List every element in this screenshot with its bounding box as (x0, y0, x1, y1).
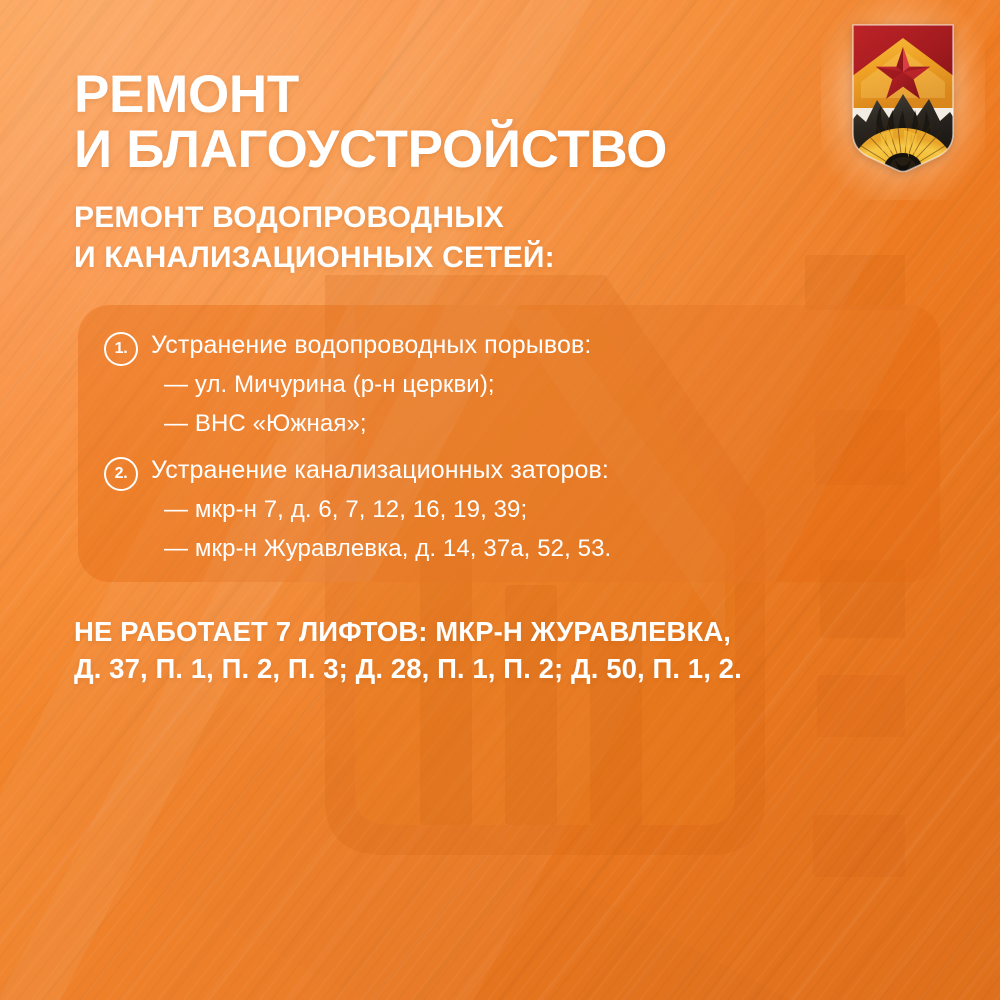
page-subtitle-line-2: И КАНАЛИЗАЦИОННЫХ СЕТЕЙ: (74, 238, 834, 278)
lifts-notice: НЕ РАБОТАЕТ 7 ЛИФТОВ: МКР-Н ЖУРАВЛЕВКА, … (74, 614, 954, 688)
list-sub-item: — ул. Мичурина (р-н церкви); (164, 366, 591, 405)
list-number-badge: 1. (104, 332, 138, 366)
coat-of-arms-shield-icon (847, 22, 959, 174)
page-subtitle: РЕМОНТ ВОДОПРОВОДНЫХ И КАНАЛИЗАЦИОННЫХ С… (74, 198, 834, 277)
page-subtitle-line-1: РЕМОНТ ВОДОПРОВОДНЫХ (74, 198, 834, 238)
list-sub-item: — мкр-н 7, д. 6, 7, 12, 16, 19, 39; (164, 491, 611, 530)
page-title-line-1: РЕМОНТ (74, 68, 834, 123)
lifts-notice-line-1: НЕ РАБОТАЕТ 7 ЛИФТОВ: МКР-Н ЖУРАВЛЕВКА, (74, 614, 954, 651)
coat-of-arms (847, 22, 959, 174)
numbered-heading: 1. Устранение водопроводных порывов: (104, 328, 591, 366)
list-number-badge: 2. (104, 457, 138, 491)
poster-canvas: РЕМОНТ И БЛАГОУСТРОЙСТВО РЕМОНТ ВОДОПРОВ… (0, 0, 1000, 1000)
list-item: 2. Устранение канализационных заторов: —… (104, 453, 611, 569)
page-title: РЕМОНТ И БЛАГОУСТРОЙСТВО (74, 68, 834, 177)
list-item: 1. Устранение водопроводных порывов: — у… (104, 328, 591, 444)
page-title-line-2: И БЛАГОУСТРОЙСТВО (74, 123, 834, 178)
list-item-title: Устранение водопроводных порывов: (151, 328, 591, 363)
numbered-heading: 2. Устранение канализационных заторов: (104, 453, 611, 491)
lifts-notice-line-2: Д. 37, П. 1, П. 2, П. 3; Д. 28, П. 1, П.… (74, 651, 954, 688)
list-sub-item: — ВНС «Южная»; (164, 405, 591, 444)
content-card-body: 1. Устранение водопроводных порывов: — у… (78, 305, 940, 582)
list-item-title: Устранение канализационных заторов: (151, 453, 609, 488)
list-sub-item: — мкр-н Журавлевка, д. 14, 37а, 52, 53. (164, 530, 611, 569)
